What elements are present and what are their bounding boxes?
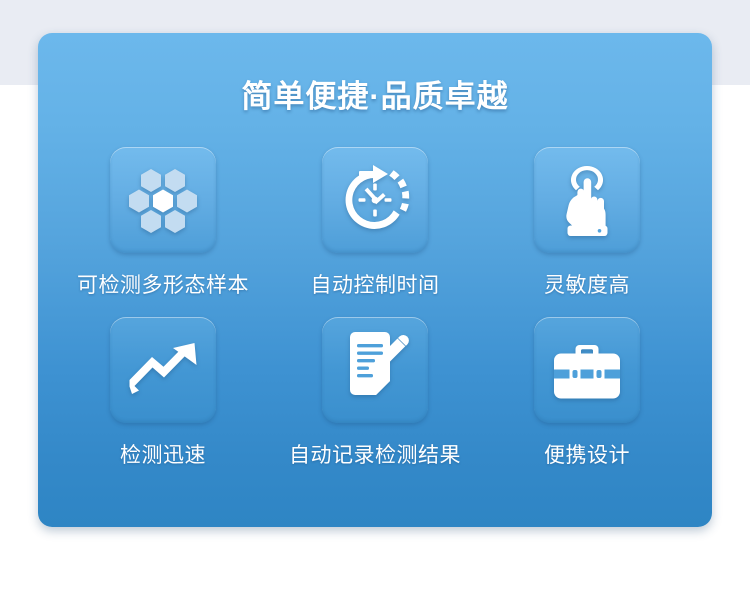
document-pencil-icon: [340, 332, 410, 408]
feature-label: 便携设计: [544, 439, 630, 469]
feature-label: 自动控制时间: [311, 269, 440, 299]
feature-item-portable-design[interactable]: 便携设计: [489, 317, 685, 469]
feature-item-sensitivity[interactable]: 灵敏度高: [489, 147, 685, 299]
icon-tile[interactable]: [110, 317, 216, 423]
briefcase-icon: [549, 338, 625, 402]
touch-hand-icon: [552, 162, 622, 238]
feature-item-auto-timing[interactable]: 自动控制时间: [277, 147, 473, 299]
page-title: 简单便捷·品质卓越: [38, 71, 712, 116]
icon-tile[interactable]: [322, 317, 428, 423]
feature-item-sample-types[interactable]: 可检测多形态样本: [65, 147, 261, 299]
feature-row-bottom: 检测迅速: [65, 317, 685, 469]
feature-item-auto-record[interactable]: 自动记录检测结果: [277, 317, 473, 469]
feature-label: 可检测多形态样本: [77, 269, 249, 299]
feature-item-fast-detection[interactable]: 检测迅速: [65, 317, 261, 469]
feature-label: 灵敏度高: [544, 269, 630, 299]
feature-label: 自动记录检测结果: [289, 439, 461, 469]
icon-tile[interactable]: [534, 147, 640, 253]
clock-arrow-icon: [337, 162, 413, 238]
icon-tile[interactable]: [534, 317, 640, 423]
trend-up-arrow-icon: [126, 340, 200, 400]
feature-row-top: 可检测多形态样本: [65, 147, 685, 299]
icon-tile[interactable]: [322, 147, 428, 253]
feature-card: 简单便捷·品质卓越: [38, 33, 712, 527]
icon-tile[interactable]: [110, 147, 216, 253]
feature-grid: 可检测多形态样本: [65, 147, 685, 469]
hexagon-cluster-icon: [126, 163, 200, 237]
feature-label: 检测迅速: [120, 439, 206, 469]
